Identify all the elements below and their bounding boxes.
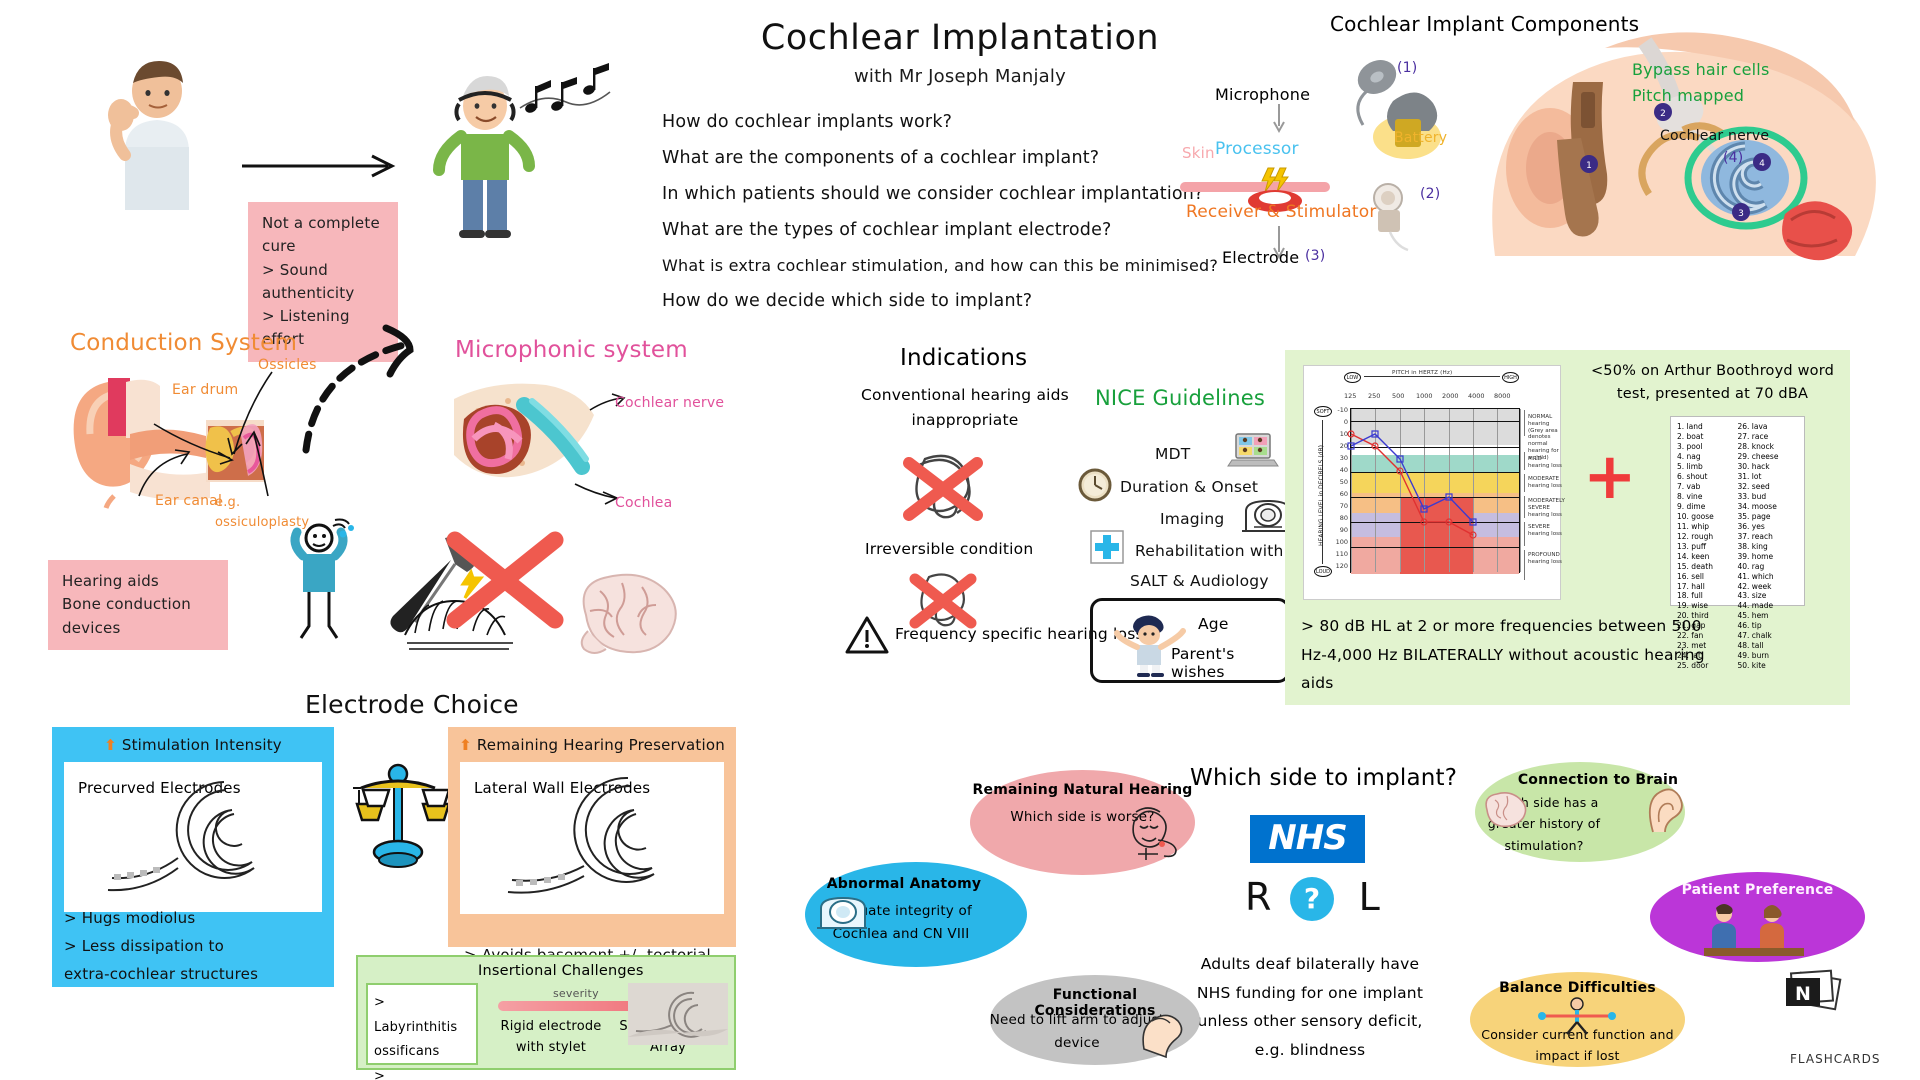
page-title: Cochlear Implantation: [735, 18, 1185, 58]
word-cell: 44. made: [1738, 601, 1799, 611]
word-cell: 41. which: [1738, 572, 1799, 582]
lateral-panel-header: ⬆ Remaining Hearing Preservation: [448, 727, 736, 754]
nice-age-card: Age Parent's wishes: [1090, 598, 1290, 683]
insertional-challenges-panel: Insertional Challenges > Labyrinthitis o…: [356, 955, 736, 1070]
svg-text:4: 4: [1759, 159, 1765, 169]
word-cell: 45. hem: [1738, 611, 1799, 621]
nice-item-mdt: MDT: [1155, 445, 1190, 463]
y-tick: -10: [1334, 406, 1348, 414]
component-number-2: (2): [1420, 186, 1440, 202]
severity-left-end: Rigid electrode with stylet: [496, 1017, 606, 1059]
medical-cross-icon: [1090, 530, 1124, 564]
balance-person-icon: [1532, 996, 1622, 1036]
label-cochlea: Cochlea: [615, 495, 672, 511]
question-item: How do we decide which side to implant?: [662, 291, 1182, 311]
audiogram-plot-area: [1350, 408, 1520, 573]
right-letter-L: L: [1359, 875, 1380, 919]
component-number-1: (1): [1397, 60, 1417, 76]
word-cell: 6. shout: [1677, 472, 1738, 482]
word-cell: 18. full: [1677, 591, 1738, 601]
nice-item-salt: SALT & Audiology: [1130, 572, 1269, 590]
infographic-canvas: Cochlear Implantation with Mr Joseph Man…: [0, 0, 1920, 1080]
question-item: What are the components of a cochlear im…: [662, 148, 1182, 168]
hearing-aids-box: Hearing aids Bone conduction devices: [48, 560, 228, 650]
y-tick: 100: [1334, 538, 1348, 546]
word-cell: 46. tip: [1738, 621, 1799, 631]
severity-label: severity: [553, 987, 599, 1000]
nice-age-label: Age: [1198, 615, 1229, 633]
word-cell: 19. wise: [1677, 601, 1738, 611]
nice-item-rehab: Rehabilitation with: [1135, 542, 1284, 560]
word-cell: 32. seed: [1738, 482, 1799, 492]
precurved-bullet: > Less dissipation to: [64, 933, 330, 961]
word-row: 10. goose35. page: [1677, 512, 1798, 522]
bubble-functional-considerations: Functional Considerations Need to lift a…: [990, 975, 1200, 1065]
indications-line-1: Conventional hearing aids inappropriate: [855, 383, 1075, 433]
balance-scales-icon: [355, 760, 441, 870]
audiogram-chart: LOW HIGH PITCH in HERTZ (Hz) SOFT LOUD H…: [1303, 365, 1561, 600]
y-tick: 0: [1334, 418, 1348, 426]
word-cell: 2. boat: [1677, 432, 1738, 442]
bubble-title: Balance Difficulties: [1470, 980, 1685, 996]
laptop-icon: [1228, 432, 1278, 468]
word-cell: 17. hall: [1677, 582, 1738, 592]
x-tick: 500: [1392, 392, 1404, 400]
word-cell: 31. lot: [1738, 472, 1799, 482]
transition-arrow-icon: [240, 150, 400, 180]
label-ear-canal: Ear canal: [155, 493, 222, 509]
loudness-loud-marker: LOUD: [1314, 566, 1332, 577]
flow-microphone-label: Microphone: [1215, 85, 1310, 104]
word-cell: 4. nag: [1677, 452, 1738, 462]
word-row: 4. nag29. cheese: [1677, 452, 1798, 462]
insertional-item: > Otosclerosis: [374, 1065, 470, 1080]
green-note-bypass: Bypass hair cells: [1632, 60, 1770, 79]
cochlea-arrow-icon: [575, 478, 619, 508]
word-cell: 15. death: [1677, 562, 1738, 572]
y-tick: 70: [1334, 502, 1348, 510]
flashcards-logo: N FLASHCARDS: [1790, 1010, 1910, 1070]
ear-icon: [1643, 788, 1683, 834]
x-tick: 2000: [1442, 392, 1459, 400]
word-row: 17. hall42. week: [1677, 582, 1798, 592]
word-cell: 28. knock: [1738, 442, 1799, 452]
earcanal-arrow-icon: [125, 440, 195, 500]
question-item: What is extra cochlear stimulation, and …: [662, 256, 1182, 275]
svg-text:1: 1: [1586, 161, 1592, 171]
mri-icon: [815, 894, 869, 934]
bubble-title: Remaining Natural Hearing: [970, 782, 1195, 798]
question-list: How do cochlear implants work? What are …: [662, 112, 1182, 327]
hearing-aid-crossed-icon: [895, 445, 990, 525]
word-cell: 11. whip: [1677, 522, 1738, 532]
dashed-transition-arrow-icon: [300, 320, 430, 460]
word-cell: 36. yes: [1738, 522, 1799, 532]
label-cochlear-nerve: Cochlear nerve: [615, 395, 724, 411]
word-cell: 26. lava: [1738, 422, 1799, 432]
flow-electrode-label: Electrode: [1222, 248, 1299, 267]
skin-label: Skin: [1182, 144, 1215, 162]
word-cell: 1. land: [1677, 422, 1738, 432]
precurved-bullet: extra-cochlear structures: [64, 961, 330, 989]
not-a-cure-point: > Sound authenticity: [262, 259, 384, 306]
precurved-bullet: > Hugs modiolus: [64, 905, 330, 933]
lateral-card: Lateral Wall Electrodes: [460, 762, 724, 914]
flow-processor-label: Processor: [1215, 139, 1299, 159]
word-cell: 38. king: [1738, 542, 1799, 552]
bubble-title: Patient Preference: [1650, 882, 1865, 898]
word-cell: 33. bud: [1738, 492, 1799, 502]
y-tick: 30: [1334, 454, 1348, 462]
precurved-card: Precurved Electrodes: [64, 762, 322, 912]
y-tick: 120: [1334, 562, 1348, 570]
nice-parents-wishes-label: Parent's wishes: [1171, 645, 1287, 681]
nhs-funding-text: Adults deaf bilaterally have NHS funding…: [1185, 950, 1435, 1065]
word-row: 5. limb30. hack: [1677, 462, 1798, 472]
pitch-high-marker: HIGH: [1502, 372, 1519, 383]
label-ear-drum: Ear drum: [172, 382, 238, 398]
arthur-boothroyd-word-list: 1. land26. lava 2. boat27. race 3. pool2…: [1670, 416, 1805, 606]
battery-label: Battery: [1394, 130, 1447, 146]
lateral-wall-electrode-panel: ⬆ Remaining Hearing Preservation Lateral…: [448, 727, 736, 947]
label-eg: e.g.: [215, 495, 240, 510]
right-left-selector: R L ?: [1245, 875, 1380, 919]
brain-illustration: [570, 565, 680, 655]
cochlea-illustration: [450, 375, 600, 485]
word-row: 8. vine33. bud: [1677, 492, 1798, 502]
word-row: 13. puff38. king: [1677, 542, 1798, 552]
clock-icon: [1078, 468, 1112, 502]
hearing-level-axis-title: HEARING LEVEL in DECIBELS (dB): [1318, 445, 1325, 546]
brain-icon: [1481, 790, 1527, 828]
audiology-criteria-text: > 80 dB HL at 2 or more frequencies betw…: [1301, 612, 1731, 698]
svg-text:3: 3: [1738, 209, 1744, 219]
word-cell: 13. puff: [1677, 542, 1738, 552]
word-row: 18. full43. size: [1677, 591, 1798, 601]
svg-text:2: 2: [1660, 109, 1666, 119]
word-cell: 50. kite: [1738, 661, 1799, 671]
word-cell: 30. hack: [1738, 462, 1799, 472]
pitch-axis-title: PITCH in HERTZ (Hz): [1392, 370, 1452, 376]
y-tick: 40: [1334, 466, 1348, 474]
precurved-panel-header: ⬆ Stimulation Intensity: [52, 727, 334, 754]
word-row: 11. whip36. yes: [1677, 522, 1798, 532]
cochlear-nerve-label: Cochlear nerve: [1660, 128, 1769, 144]
loudness-soft-marker: SOFT: [1314, 406, 1332, 417]
electrode-number: (3): [1305, 248, 1325, 264]
word-cell: 8. vine: [1677, 492, 1738, 502]
nhs-logo: NHS: [1250, 815, 1365, 863]
flow-arrow-icon: [1273, 104, 1285, 134]
bubble-title: Abnormal Anatomy: [793, 876, 1015, 892]
band-caption-mod-severe: MODERATELY SEVERE hearing loss: [1528, 498, 1562, 518]
bone-conduction-line: Bone conduction devices: [62, 593, 214, 640]
word-row: 1. land26. lava: [1677, 422, 1798, 432]
word-row: 12. rough37. reach: [1677, 532, 1798, 542]
not-a-cure-heading: Not a complete cure: [262, 212, 384, 259]
word-row: 19. wise44. made: [1677, 601, 1798, 611]
word-cell: 27. race: [1738, 432, 1799, 442]
word-cell: 16. sell: [1677, 572, 1738, 582]
ossiculoplasty-arrow-icon: [228, 430, 288, 500]
word-cell: 39. home: [1738, 552, 1799, 562]
indications-title: Indications: [900, 345, 1027, 371]
word-row: 16. sell41. which: [1677, 572, 1798, 582]
insertional-item: > Labyrinthitis ossificans: [374, 991, 470, 1065]
word-row: 7. vab32. seed: [1677, 482, 1798, 492]
flashcards-wordmark: FLASHCARDS: [1790, 1052, 1881, 1066]
conduction-system-title: Conduction System: [70, 330, 297, 356]
stick-figure-icon: [285, 520, 355, 645]
people-icon: [1698, 902, 1818, 958]
word-cell: 35. page: [1738, 512, 1799, 522]
precurved-header-text: Stimulation Intensity: [122, 736, 282, 754]
y-tick: 60: [1334, 490, 1348, 498]
bubble-title: Connection to Brain: [1493, 772, 1703, 788]
word-cell: 10. goose: [1677, 512, 1738, 522]
word-cell: 48. tall: [1738, 641, 1799, 651]
question-item: In which patients should we consider coc…: [662, 184, 1182, 204]
word-cell: 37. reach: [1738, 532, 1799, 542]
hearing-aids-line: Hearing aids: [62, 570, 214, 593]
bubble-connection-to-brain: Connection to Brain Which side has a gre…: [1475, 762, 1685, 862]
red-cross-out-icon: [445, 530, 565, 630]
word-cell: 49. burn: [1738, 651, 1799, 661]
which-side-title: Which side to implant?: [1190, 765, 1457, 791]
audiogram-series: [1351, 409, 1521, 574]
lateral-header-text: Remaining Hearing Preservation: [477, 736, 725, 754]
precurved-bullets: > Hugs modiolus > Less dissipation to ex…: [52, 895, 342, 988]
audiology-criteria-panel: LOW HIGH PITCH in HERTZ (Hz) SOFT LOUD H…: [1285, 350, 1850, 705]
word-row: 2. boat27. race: [1677, 432, 1798, 442]
plus-symbol: +: [1583, 445, 1637, 509]
cochlea-scan-image: [628, 983, 728, 1045]
word-row: 9. dime34. moose: [1677, 502, 1798, 512]
x-tick: 125: [1344, 392, 1356, 400]
band-caption-normal: NORMAL hearing (Grey area denotes normal…: [1528, 414, 1562, 462]
word-cell: 3. pool: [1677, 442, 1738, 452]
word-cell: 47. chalk: [1738, 631, 1799, 641]
word-cell: 9. dime: [1677, 502, 1738, 512]
nice-guidelines-title: NICE Guidelines: [1095, 386, 1265, 410]
insertional-header: Insertional Challenges: [478, 963, 644, 979]
x-tick: 8000: [1494, 392, 1511, 400]
up-arrow-icon: ⬆: [459, 736, 472, 754]
band-caption-severe: SEVERE hearing loss: [1528, 524, 1562, 538]
nerve-number: (4): [1723, 150, 1743, 166]
word-cell: 43. size: [1738, 591, 1799, 601]
word-cell: 42. week: [1738, 582, 1799, 592]
band-caption-mild: MILD hearing loss: [1528, 456, 1562, 470]
question-mark-bubble: ?: [1290, 877, 1334, 921]
x-tick: 1000: [1416, 392, 1433, 400]
left-letter-R: R: [1245, 875, 1272, 919]
boothroyd-criteria-text: <50% on Arthur Boothroyd word test, pres…: [1585, 360, 1840, 406]
insertional-left-items: > Labyrinthitis ossificans > Otosclerosi…: [366, 983, 478, 1065]
band-caption-moderate: MODERATE hearing loss: [1528, 476, 1562, 490]
question-item: How do cochlear implants work?: [662, 112, 1182, 132]
pitch-low-marker: LOW: [1344, 372, 1361, 383]
y-tick: 10: [1334, 430, 1348, 438]
bubble-balance-difficulties: Balance Difficulties Consider current fu…: [1470, 972, 1685, 1067]
up-arrow-icon: ⬆: [104, 736, 117, 754]
word-row: 6. shout31. lot: [1677, 472, 1798, 482]
y-tick: 90: [1334, 526, 1348, 534]
indications-line-2: Irreversible condition: [865, 540, 1033, 558]
word-row: 14. keen39. home: [1677, 552, 1798, 562]
nice-item-duration: Duration & Onset: [1120, 478, 1258, 496]
confused-person-icon: [95, 55, 225, 215]
bubble-patient-preference: Patient Preference: [1650, 872, 1865, 962]
band-caption-profound: PROFOUND hearing loss: [1528, 552, 1562, 566]
word-cell: 12. rough: [1677, 532, 1738, 542]
x-tick: 250: [1368, 392, 1380, 400]
warning-triangle-icon: [845, 615, 890, 655]
confused-person-icon: [1120, 804, 1180, 862]
y-tick: 80: [1334, 514, 1348, 522]
word-cell: 5. limb: [1677, 462, 1738, 472]
bubble-remaining-natural-hearing: Remaining Natural Hearing Which side is …: [970, 770, 1195, 875]
nice-item-imaging: Imaging: [1160, 510, 1224, 528]
x-tick: 4000: [1468, 392, 1485, 400]
word-cell: 34. moose: [1738, 502, 1799, 512]
word-cell: 40. rag: [1738, 562, 1799, 572]
y-tick: 20: [1334, 442, 1348, 450]
word-row: 15. death40. rag: [1677, 562, 1798, 572]
implant-device-icon: [1360, 182, 1420, 252]
flow-receiver-label: Receiver & Stimulator: [1186, 202, 1377, 222]
word-cell: 14. keen: [1677, 552, 1738, 562]
microphonic-system-title: Microphonic system: [455, 337, 688, 363]
y-tick: 110: [1334, 550, 1348, 558]
page-subtitle: with Mr Joseph Manjaly: [735, 66, 1185, 87]
word-row: 3. pool28. knock: [1677, 442, 1798, 452]
word-cell: 29. cheese: [1738, 452, 1799, 462]
bubble-abnormal-anatomy: Abnormal Anatomy Evaluate integrity of C…: [805, 862, 1027, 967]
electrode-choice-title: Electrode Choice: [305, 690, 519, 719]
green-note-pitch: Pitch mapped: [1632, 86, 1744, 105]
flashcards-mark: N: [1795, 983, 1811, 1005]
music-notes-icon: [515, 60, 615, 130]
pitch-axis-line: [1364, 376, 1500, 377]
word-cell: 7. vab: [1677, 482, 1738, 492]
question-item: What are the types of cochlear implant e…: [662, 220, 1182, 240]
arm-icon: [1134, 1009, 1184, 1053]
y-tick: 50: [1334, 478, 1348, 486]
